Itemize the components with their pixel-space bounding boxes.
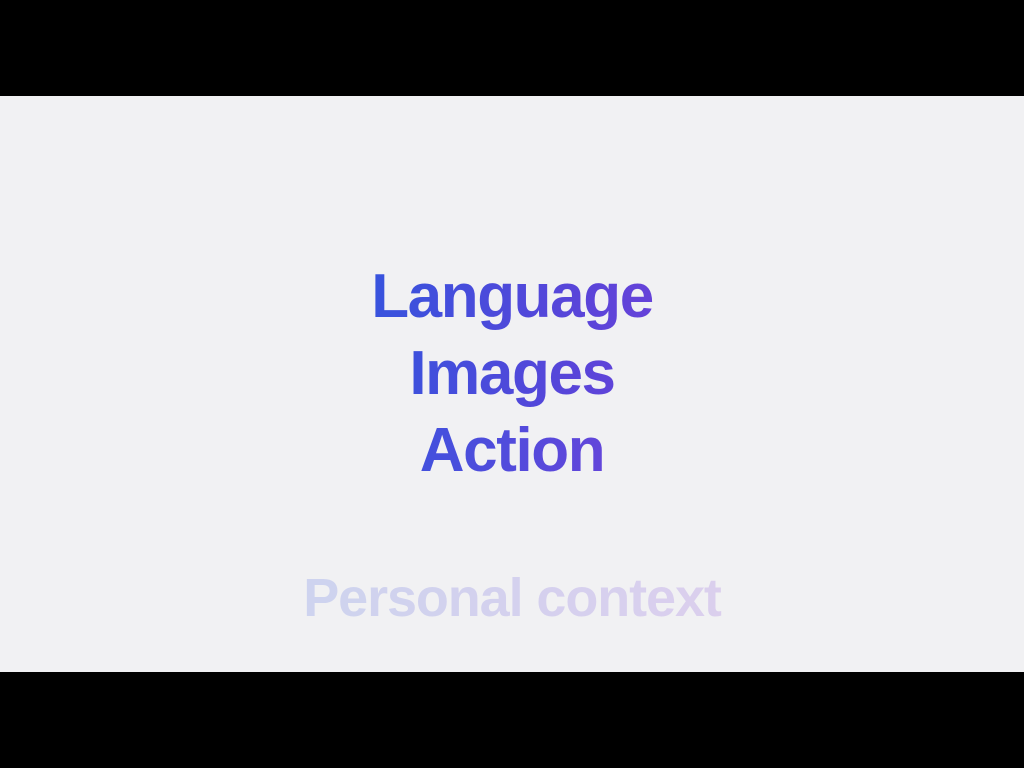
personal-context-label: Personal context xyxy=(0,564,1024,632)
capability-item-action: Action xyxy=(0,412,1024,489)
capability-item-language: Language xyxy=(0,258,1024,335)
capability-list: Language Images Action xyxy=(0,258,1024,489)
personal-context-container: Personal context xyxy=(0,564,1024,632)
capability-item-images: Images xyxy=(0,335,1024,412)
letterbox-bar-top xyxy=(0,0,1024,96)
slide-screen: Language Images Action Personal context xyxy=(0,0,1024,768)
letterbox-bar-bottom xyxy=(0,672,1024,768)
slide-stage: Language Images Action Personal context xyxy=(0,96,1024,672)
